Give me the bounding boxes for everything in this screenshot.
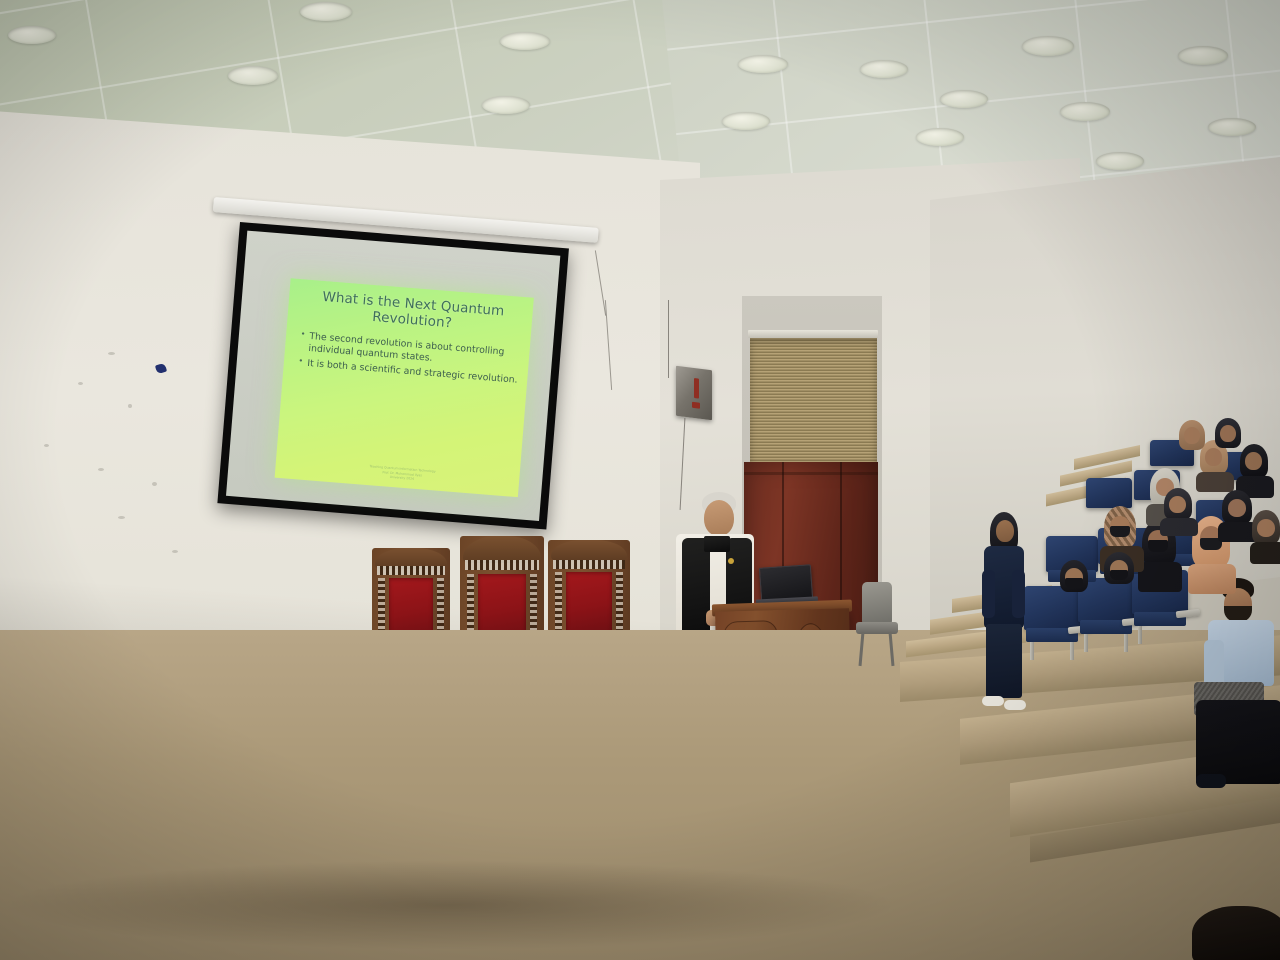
grey-chair-leg — [889, 632, 895, 666]
ceiling-downlight — [1022, 36, 1074, 56]
seat-leg — [1084, 634, 1088, 652]
attendee-arm — [1012, 570, 1025, 618]
seated-attendee — [1160, 488, 1202, 536]
wall-scuff — [128, 404, 132, 408]
attendee-arm — [982, 570, 995, 618]
attendee-face — [1228, 499, 1246, 517]
ceiling-downlight — [860, 60, 908, 78]
stage-floor-shadow — [0, 860, 900, 950]
wall-scuff — [78, 382, 83, 385]
chair-lattice — [377, 566, 446, 575]
chair-crest — [551, 540, 626, 561]
ceiling-downlight — [722, 112, 770, 130]
ceiling-downlight — [916, 128, 964, 146]
grey-chair-back — [862, 582, 892, 624]
attendee-arm — [1204, 640, 1224, 688]
ceiling-downlight — [228, 66, 278, 85]
ceiling-downlight — [940, 90, 988, 108]
wall-mounted-alarm — [676, 366, 712, 420]
chair-lattice — [465, 560, 539, 570]
slide-footer: Teaching Quantum Information Technology … — [329, 461, 476, 487]
attendee-torso — [1196, 700, 1280, 784]
seat-writing-tablet[interactable] — [1176, 609, 1201, 618]
attendee-face-mask — [1110, 570, 1128, 580]
attendee-torso — [1188, 564, 1236, 594]
ceiling-downlight — [1208, 118, 1256, 136]
seat-leg — [1124, 634, 1128, 652]
ceiling-downlight — [300, 2, 352, 21]
ceiling-downlight — [1178, 46, 1228, 65]
seated-attendee — [1250, 510, 1280, 564]
attendee-face — [1169, 496, 1186, 513]
seated-attendee-foreground — [1196, 700, 1280, 820]
attendee-face — [1257, 519, 1275, 537]
blind-headrail — [748, 330, 878, 338]
wall-scuff — [118, 516, 125, 519]
chair-back-pad — [566, 572, 612, 634]
attendee-torso — [1160, 518, 1198, 536]
presenter-waistcoat-collar — [704, 536, 730, 552]
standing-attendee — [976, 512, 1032, 716]
presenter-head — [704, 500, 734, 536]
ceiling-downlight — [482, 96, 530, 114]
door-panel-band — [744, 472, 878, 475]
presenter-waistcoat — [682, 538, 710, 644]
wall-scuff — [98, 468, 104, 471]
chair-side-rail — [555, 572, 562, 634]
chair-side-rail — [616, 572, 623, 634]
wall-scuff — [152, 482, 157, 486]
attendee-face-mask — [1110, 526, 1130, 537]
seated-attendee — [1212, 418, 1252, 462]
alarm-indicator — [692, 402, 700, 409]
seat-leg — [1138, 626, 1142, 644]
chair-lattice — [553, 560, 625, 569]
presenter-lapel-pin — [728, 558, 734, 564]
attendee-face — [1220, 425, 1236, 442]
ceiling-downlight — [8, 26, 56, 44]
seat-leg — [1070, 642, 1074, 660]
attendee-face — [1184, 427, 1200, 444]
wall-scuff — [44, 444, 49, 447]
grey-stacking-chair[interactable] — [854, 582, 900, 668]
wall-scuff — [108, 352, 115, 355]
seated-attendee — [1056, 560, 1100, 608]
foreground-hair — [1192, 906, 1280, 960]
projection-screen-frame: What is the Next Quantum Revolution? The… — [217, 222, 569, 530]
seat-back — [1086, 478, 1132, 508]
slide-bullet-list: The second revolution is about controlli… — [297, 330, 523, 389]
alarm-indicator — [694, 378, 699, 399]
alarm-wire — [668, 300, 669, 378]
screen-surface: What is the Next Quantum Revolution? The… — [226, 231, 560, 521]
cane-window-blind[interactable] — [750, 338, 877, 462]
ceiling-downlight — [738, 55, 788, 73]
attendee-shoe — [982, 696, 1004, 706]
ceiling-downlight — [1096, 152, 1144, 170]
seated-attendee — [1176, 420, 1216, 464]
ceiling-downlight — [1060, 102, 1110, 121]
attendee-trousers — [986, 624, 1022, 698]
attendee-shoe — [1004, 700, 1026, 710]
attendee-face-mask — [1148, 540, 1168, 552]
attendee-face-mask — [1065, 578, 1083, 588]
attendee-shoe — [1196, 774, 1226, 788]
presentation-slide: What is the Next Quantum Revolution? The… — [275, 278, 534, 497]
slide-title: What is the Next Quantum Revolution? — [304, 288, 521, 338]
foreground-person-head — [1192, 906, 1280, 960]
auditorium-photo: What is the Next Quantum Revolution? The… — [0, 0, 1280, 960]
attendee-face — [996, 520, 1014, 542]
seated-attendee — [1100, 552, 1146, 602]
ceiling-downlight — [500, 32, 550, 50]
attendee-torso — [1250, 542, 1280, 564]
wall-scuff — [172, 550, 178, 553]
grey-chair-leg — [859, 632, 865, 666]
